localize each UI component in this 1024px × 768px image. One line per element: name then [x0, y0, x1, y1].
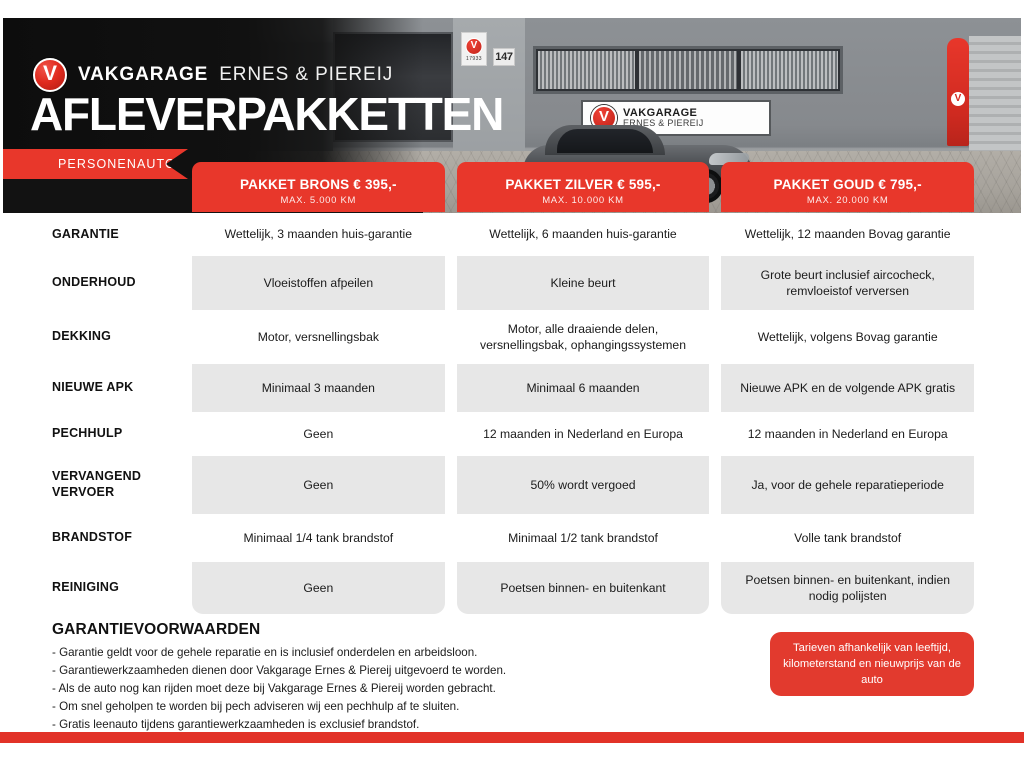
cell-pechhulp-brons: Geen: [192, 412, 445, 456]
window-pane: [639, 51, 736, 89]
row-label-dekking: DEKKING: [0, 310, 192, 364]
cell-onderhoud-goud: Grote beurt inclusief aircocheck, remvlo…: [721, 256, 974, 310]
cell-vervoer-zilver: 50% wordt vergoed: [457, 456, 710, 514]
table-row: VERVANGEND VERVOER Geen 50% wordt vergoe…: [0, 456, 1024, 514]
category-ribbon: PERSONENAUTO'S: [3, 149, 188, 179]
row-label-reiniging: REINIGING: [0, 562, 192, 614]
certification-plaque-icon: 17933: [461, 32, 487, 66]
row-label-nieuwe-apk: NIEUWE APK: [0, 364, 192, 412]
package-header-tabs: PAKKET BRONS € 395,- MAX. 5.000 KM PAKKE…: [192, 162, 974, 212]
package-title: PAKKET GOUD € 795,-: [774, 177, 922, 192]
footer-section: GARANTIEVOORWAARDEN Garantie geldt voor …: [0, 614, 1024, 732]
package-title: PAKKET ZILVER € 595,-: [505, 177, 660, 192]
cell-garantie-zilver: Wettelijk, 6 maanden huis-garantie: [457, 213, 710, 256]
cell-brandstof-zilver: Minimaal 1/2 tank brandstof: [457, 514, 710, 562]
cell-reiniging-brons: Geen: [192, 562, 445, 614]
cell-vervoer-brons: Geen: [192, 456, 445, 514]
cell-apk-goud: Nieuwe APK en de volgende APK gratis: [721, 364, 974, 412]
conditions-list: Garantie geldt voor de gehele reparatie …: [52, 644, 506, 734]
cell-onderhoud-brons: Vloeistoffen afpeilen: [192, 256, 445, 310]
cell-brandstof-goud: Volle tank brandstof: [721, 514, 974, 562]
window-pane: [538, 51, 635, 89]
cell-apk-zilver: Minimaal 6 maanden: [457, 364, 710, 412]
package-tab-goud[interactable]: PAKKET GOUD € 795,- MAX. 20.000 KM: [721, 162, 974, 212]
cell-vervoer-goud: Ja, voor de gehele reparatieperiode: [721, 456, 974, 514]
cell-dekking-goud: Wettelijk, volgens Bovag garantie: [721, 310, 974, 364]
list-item: Garantiewerkzaamheden dienen door Vakgar…: [52, 662, 506, 680]
list-item: Garantie geldt voor de gehele reparatie …: [52, 644, 506, 662]
car-windshield: [557, 129, 653, 153]
row-label-pechhulp: PECHHULP: [0, 412, 192, 456]
category-ribbon-label: PERSONENAUTO'S: [3, 157, 189, 171]
cell-apk-brons: Minimaal 3 maanden: [192, 364, 445, 412]
package-comparison-table: GARANTIE Wettelijk, 3 maanden huis-garan…: [0, 213, 1024, 614]
plaque-code: 17933: [462, 56, 486, 62]
poster-page: 17933 147 VAKGARAGE ERNES & PIEREIJ: [0, 0, 1024, 768]
brand-location: ERNES & PIEREIJ: [219, 64, 393, 86]
house-number: 147: [493, 48, 515, 66]
cell-garantie-brons: Wettelijk, 3 maanden huis-garantie: [192, 213, 445, 256]
page-title: AFLEVERPAKKETTEN: [30, 91, 503, 137]
table-row: BRANDSTOF Minimaal 1/4 tank brandstof Mi…: [0, 514, 1024, 562]
table-row: PECHHULP Geen 12 maanden in Nederland en…: [0, 412, 1024, 456]
list-item: Om snel geholpen te worden bij pech advi…: [52, 698, 506, 716]
pricing-note-badge: Tarieven afhankelijk van leeftijd, kilom…: [770, 632, 974, 696]
cell-reiniging-zilver: Poetsen binnen- en buitenkant: [457, 562, 710, 614]
cell-pechhulp-zilver: 12 maanden in Nederland en Europa: [457, 412, 710, 456]
cell-onderhoud-zilver: Kleine beurt: [457, 256, 710, 310]
package-subtitle: MAX. 5.000 KM: [281, 195, 357, 206]
vakgarage-v-logo-icon: V: [951, 92, 965, 106]
window-pane: [741, 51, 838, 89]
package-subtitle: MAX. 10.000 KM: [542, 195, 624, 206]
cell-pechhulp-goud: 12 maanden in Nederland en Europa: [721, 412, 974, 456]
table-row: ONDERHOUD Vloeistoffen afpeilen Kleine b…: [0, 256, 1024, 310]
package-tab-brons[interactable]: PAKKET BRONS € 395,- MAX. 5.000 KM: [192, 162, 445, 212]
list-item: Als de auto nog kan rijden moet deze bij…: [52, 680, 506, 698]
table-row: NIEUWE APK Minimaal 3 maanden Minimaal 6…: [0, 364, 1024, 412]
row-label-onderhoud: ONDERHOUD: [0, 256, 192, 310]
row-label-brandstof: BRANDSTOF: [0, 514, 192, 562]
brand-lockup: VAKGARAGE ERNES & PIEREIJ: [33, 58, 393, 92]
cell-reiniging-goud: Poetsen binnen- en buitenkant, indien no…: [721, 562, 974, 614]
facade-windows: [533, 46, 843, 94]
brand-name: VAKGARAGE: [78, 64, 208, 86]
table-row: DEKKING Motor, versnellingsbak Motor, al…: [0, 310, 1024, 364]
package-title: PAKKET BRONS € 395,-: [240, 177, 397, 192]
row-label-garantie: GARANTIE: [0, 213, 192, 256]
vakgarage-v-logo-icon: [33, 58, 67, 92]
cell-brandstof-brons: Minimaal 1/4 tank brandstof: [192, 514, 445, 562]
roller-garage-door: [969, 36, 1021, 161]
table-row: REINIGING Geen Poetsen binnen- en buiten…: [0, 562, 1024, 614]
row-label-vervangend-vervoer: VERVANGEND VERVOER: [0, 456, 192, 514]
table-row: GARANTIE Wettelijk, 3 maanden huis-garan…: [0, 213, 1024, 256]
conditions-title: GARANTIEVOORWAARDEN: [52, 621, 260, 639]
vakgarage-v-logo-icon: [466, 38, 483, 55]
cell-dekking-zilver: Motor, alle draaiende delen, versnelling…: [457, 310, 710, 364]
bottom-accent-bar: [0, 732, 1024, 743]
package-tab-zilver[interactable]: PAKKET ZILVER € 595,- MAX. 10.000 KM: [457, 162, 710, 212]
package-subtitle: MAX. 20.000 KM: [807, 195, 889, 206]
beach-flag-banner: V: [947, 38, 969, 146]
cell-garantie-goud: Wettelijk, 12 maanden Bovag garantie: [721, 213, 974, 256]
cell-dekking-brons: Motor, versnellingsbak: [192, 310, 445, 364]
